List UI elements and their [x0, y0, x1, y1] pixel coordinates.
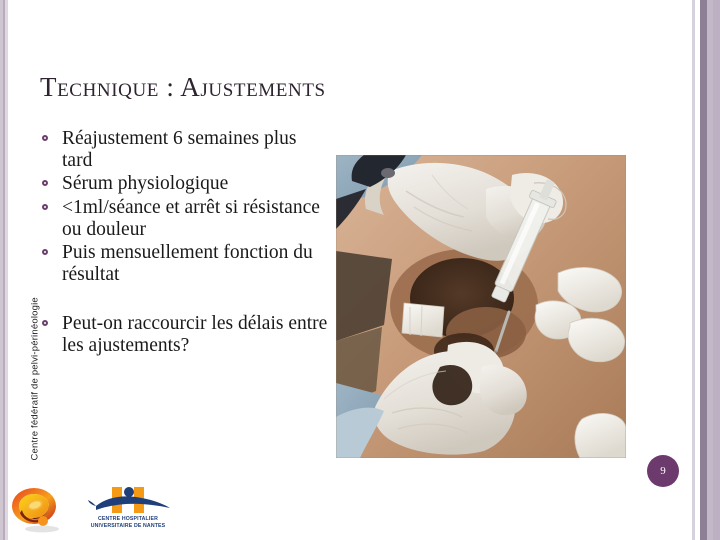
bullet-list: Réajustement 6 semaines plus tardSérum p… [38, 128, 328, 357]
slide-title: Technique : Ajustements [40, 72, 326, 103]
cfpp-round-logo-mark [8, 486, 64, 534]
chu-nantes-logo: CENTRE HOSPITALIER UNIVERSITAIRE DE NANT… [80, 486, 176, 534]
presentation-slide: Centre fédératif de pelvi-périnéologie T… [0, 0, 720, 540]
chu-logo-line-2: UNIVERSITAIRE DE NANTES [80, 523, 176, 530]
bullet-marker-icon [42, 180, 48, 186]
bullet-text: Réajustement 6 semaines plus tard [62, 128, 297, 171]
bullet-text: Peut-on raccourcir les délais entre les … [62, 313, 327, 356]
bullet-item: Puis mensuellement fonction du résultat [38, 242, 328, 286]
bullet-item: Réajustement 6 semaines plus tard [38, 128, 328, 172]
bullet-marker-icon [42, 204, 48, 210]
chu-logo-line-1: CENTRE HOSPITALIER [80, 516, 176, 523]
chu-nantes-logo-text: CENTRE HOSPITALIER UNIVERSITAIRE DE NANT… [80, 516, 176, 530]
slide-body: Réajustement 6 semaines plus tardSérum p… [38, 128, 328, 358]
cfpp-round-logo [8, 486, 64, 534]
bullet-marker-icon [42, 320, 48, 326]
bullet-text: Puis mensuellement fonction du résultat [62, 242, 313, 285]
bullet-text: Sérum physiologique [62, 173, 228, 194]
page-number-badge: 9 [647, 455, 679, 487]
right-edge-band-light [713, 0, 720, 540]
bullet-marker-icon [42, 249, 48, 255]
bullet-text: <1ml/séance et arrêt si résistance ou do… [62, 197, 320, 240]
right-edge-band-dark [700, 0, 707, 540]
bullet-item: Sérum physiologique [38, 173, 328, 195]
clinical-photo-illustration [336, 155, 626, 458]
chu-nantes-logo-mark [80, 486, 176, 516]
bullet-item: <1ml/séance et arrêt si résistance ou do… [38, 197, 328, 241]
left-edge-band-pale [5, 0, 8, 540]
bullet-item: Peut-on raccourcir les délais entre les … [38, 313, 328, 357]
bullet-marker-icon [42, 135, 48, 141]
clinical-photo [336, 155, 626, 458]
